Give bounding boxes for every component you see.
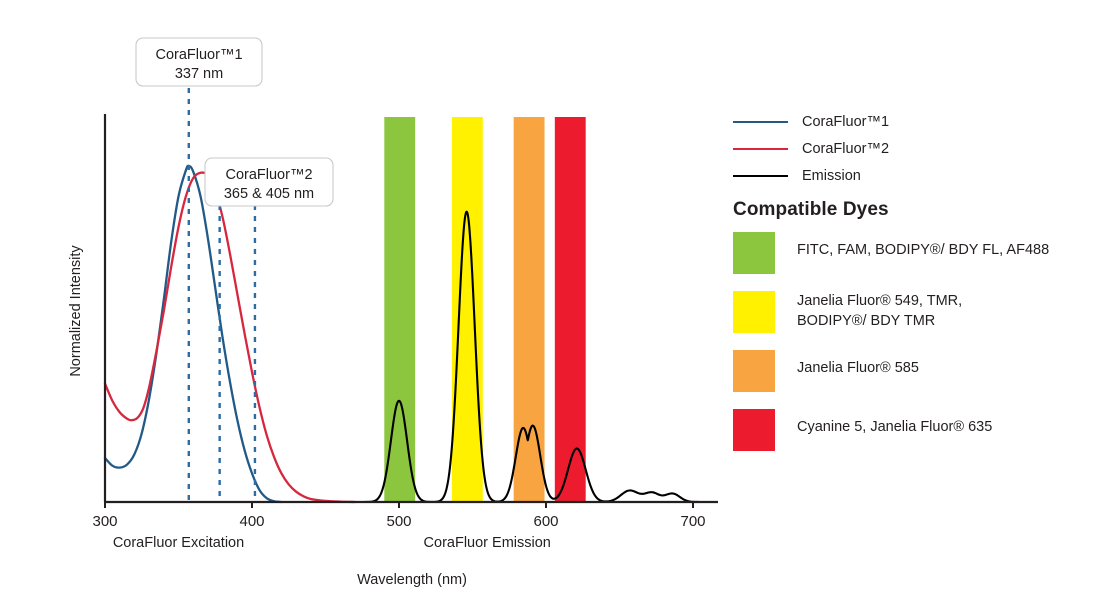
- dye-item-label-line: Janelia Fluor® 549, TMR,: [797, 292, 962, 312]
- line-swatch-icon: [733, 175, 788, 177]
- legend-item-label: CoraFluor™1: [802, 114, 889, 130]
- x-tick-label: 700: [680, 513, 705, 530]
- line-swatch-icon: [733, 148, 788, 150]
- red-band: [555, 117, 586, 502]
- axis-sublabel-1: CoraFluor Emission: [424, 535, 551, 551]
- dye-item-2: Janelia Fluor® 585: [733, 350, 1108, 392]
- emission-bands: [384, 117, 585, 502]
- legend-item-2: Emission: [733, 162, 1108, 189]
- compatible-dyes-list: FITC, FAM, BODIPY®/ BDY FL, AF488Janelia…: [733, 232, 1108, 468]
- dye-item-label-line: Cyanine 5, Janelia Fluor® 635: [797, 418, 992, 438]
- dye-color-swatch: [733, 350, 775, 392]
- callout-corafluor1-line2: 337 nm: [175, 66, 223, 82]
- dye-color-swatch: [733, 232, 775, 274]
- dye-item-label: Cyanine 5, Janelia Fluor® 635: [797, 409, 992, 438]
- dye-item-label-line: Janelia Fluor® 585: [797, 359, 919, 379]
- dye-color-swatch: [733, 291, 775, 333]
- dye-item-3: Cyanine 5, Janelia Fluor® 635: [733, 409, 1108, 451]
- x-tick-label: 500: [386, 513, 411, 530]
- wavelength-markers: [189, 88, 255, 502]
- dye-item-label-line: BODIPY®/ BDY TMR: [797, 312, 962, 332]
- dye-item-label: FITC, FAM, BODIPY®/ BDY FL, AF488: [797, 232, 1049, 261]
- right-panel: CoraFluor™1CoraFluor™2Emission Compatibl…: [728, 0, 1110, 612]
- figure-root: 300400500600700CoraFluor ExcitationCoraF…: [0, 0, 1110, 612]
- dye-item-1: Janelia Fluor® 549, TMR,BODIPY®/ BDY TMR: [733, 291, 1108, 333]
- callout-corafluor1-line1: CoraFluor™1: [155, 47, 242, 63]
- dye-item-label-line: FITC, FAM, BODIPY®/ BDY FL, AF488: [797, 241, 1049, 261]
- x-tick-label: 400: [239, 513, 264, 530]
- callouts: CoraFluor™1337 nmCoraFluor™2365 & 405 nm: [136, 38, 333, 206]
- dye-item-0: FITC, FAM, BODIPY®/ BDY FL, AF488: [733, 232, 1108, 274]
- dye-color-swatch: [733, 409, 775, 451]
- excitation-curves: [105, 166, 355, 502]
- chart-canvas: 300400500600700CoraFluor ExcitationCoraF…: [0, 0, 730, 612]
- callout-corafluor2-line2: 365 & 405 nm: [224, 186, 314, 202]
- chart-legend: CoraFluor™1CoraFluor™2Emission: [733, 108, 1108, 189]
- axis-sublabel-0: CoraFluor Excitation: [113, 535, 244, 551]
- x-axis-title: Wavelength (nm): [357, 572, 467, 588]
- yellow-band: [452, 117, 483, 502]
- x-tick-label: 600: [533, 513, 558, 530]
- y-axis-title: Normalized Intensity: [68, 245, 84, 377]
- curve-emission: [281, 212, 710, 502]
- dye-item-label: Janelia Fluor® 549, TMR,BODIPY®/ BDY TMR: [797, 291, 962, 331]
- dye-item-label: Janelia Fluor® 585: [797, 350, 919, 379]
- compatible-dyes-title: Compatible Dyes: [733, 199, 889, 221]
- x-tick-label: 300: [92, 513, 117, 530]
- legend-item-0: CoraFluor™1: [733, 108, 1108, 135]
- legend-item-label: Emission: [802, 168, 861, 184]
- callout-corafluor2-line1: CoraFluor™2: [225, 167, 312, 183]
- green-band: [384, 117, 415, 502]
- legend-item-label: CoraFluor™2: [802, 141, 889, 157]
- spectra-chart: 300400500600700CoraFluor ExcitationCoraF…: [0, 0, 730, 612]
- legend-item-1: CoraFluor™2: [733, 135, 1108, 162]
- curve-corafluor2: [105, 173, 355, 502]
- line-swatch-icon: [733, 121, 788, 123]
